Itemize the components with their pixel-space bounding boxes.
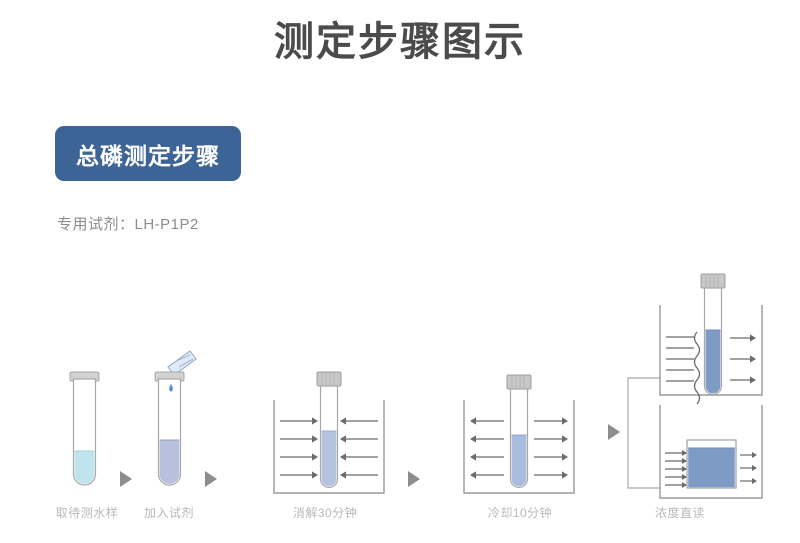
heat-arrows-right: [340, 417, 378, 478]
status-badge: 总磷测定步骤: [55, 126, 241, 181]
step-5-photometer-tube-panel: [660, 274, 762, 404]
measurement-steps-infographic: 测定步骤图示 总磷测定步骤 专用试剂：LH-P1P2: [0, 0, 800, 543]
pipette-icon: [168, 351, 196, 375]
play-triangle-icon: [205, 471, 217, 487]
tube-liquid: [512, 435, 527, 486]
step-4-cooling-bath: [464, 375, 574, 493]
step-2-test-tube-with-pipette: [155, 351, 196, 485]
step-label-4: 冷却10分钟: [460, 504, 580, 521]
status-badge-label: 总磷测定步骤: [76, 137, 220, 171]
step-1-test-tube-sample: [70, 372, 99, 485]
light-rays-in: [666, 337, 694, 381]
step-label-5: 浓度直读: [620, 504, 740, 521]
absorbance-wave-icon: [695, 332, 700, 404]
step-5-cuvette-panel: [660, 405, 762, 498]
light-rays-out: [740, 452, 757, 484]
tube-cap: [701, 274, 725, 288]
play-triangle-icon: [120, 471, 132, 487]
heat-arrows-left: [280, 417, 318, 478]
light-rays-out: [730, 334, 756, 383]
step-label-1: 取待测水样: [42, 504, 132, 521]
tube-liquid: [160, 440, 180, 484]
tube-liquid: [322, 431, 337, 486]
play-triangle-icon: [608, 424, 620, 440]
reagent-info: 专用试剂：LH-P1P2: [57, 213, 199, 234]
page-title: 测定步骤图示: [0, 18, 800, 66]
step-label-3: 消解30分钟: [265, 504, 385, 521]
bracket-connector: [628, 378, 660, 488]
light-rays-in: [665, 450, 687, 488]
tube-liquid: [75, 451, 95, 484]
cool-arrows-left: [470, 417, 504, 478]
steps-diagram: [0, 255, 800, 543]
tube-liquid: [706, 330, 721, 393]
play-triangle-icon: [408, 471, 420, 487]
tube-cap: [317, 372, 341, 386]
cool-arrows-right: [534, 417, 568, 478]
tube-cap: [507, 375, 531, 389]
step-3-digestion-heating-bath: [274, 372, 384, 493]
cuvette-liquid: [688, 448, 735, 487]
step-label-2: 加入试剂: [130, 504, 208, 521]
